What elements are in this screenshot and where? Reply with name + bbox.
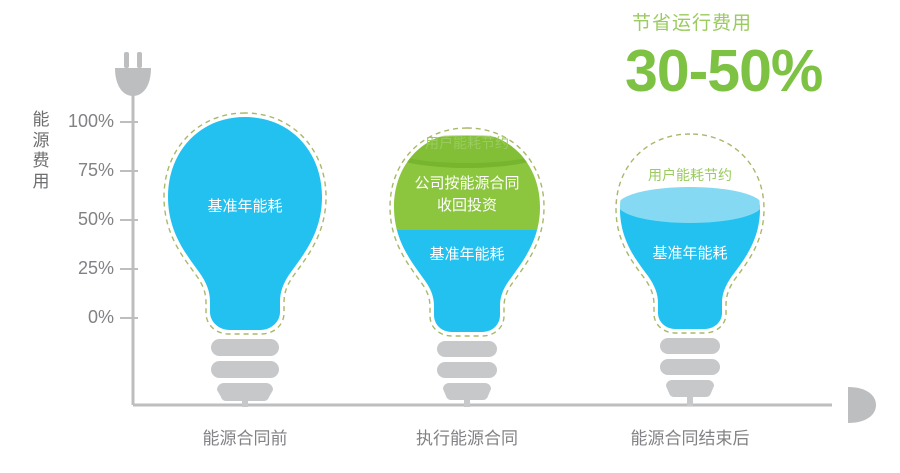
bulb-1-label: 基准年能耗 [165,196,325,218]
bulb-3-save-label: 用户能耗节约 [610,165,770,185]
bulb-2-green-label-line2: 收回投资 [387,195,547,217]
bulb-2-cyan-label: 基准年能耗 [387,244,547,266]
bulb-3-cyan-label: 基准年能耗 [610,243,770,265]
bulb-2-green-label-line1: 公司按能源合同 [387,173,547,195]
y-tick-0: 0% [48,307,114,328]
y-tick-25: 25% [48,258,114,279]
x-label-during: 执行能源合同 [387,424,547,449]
bulb-2-fill [380,135,560,348]
bulb-2-save-label: 用户能耗节约 [387,133,547,153]
x-label-before: 能源合同前 [165,424,325,449]
infographic-canvas: 节省运行费用 30-50% [0,0,900,473]
plug-icon-right [848,387,876,423]
y-tick-75: 75% [48,160,114,181]
bulb-3-base [660,338,720,406]
chart-graphic [0,0,900,473]
y-axis-ticks [120,122,138,318]
y-tick-50: 50% [48,209,114,230]
y-tick-100: 100% [48,111,114,132]
x-label-after: 能源合同结束后 [607,424,773,449]
bulb-1-base [211,339,279,407]
bulb-1 [150,110,350,407]
bulb-2-base [437,341,497,407]
plug-icon-top [115,52,151,96]
bulb-2 [380,128,560,407]
